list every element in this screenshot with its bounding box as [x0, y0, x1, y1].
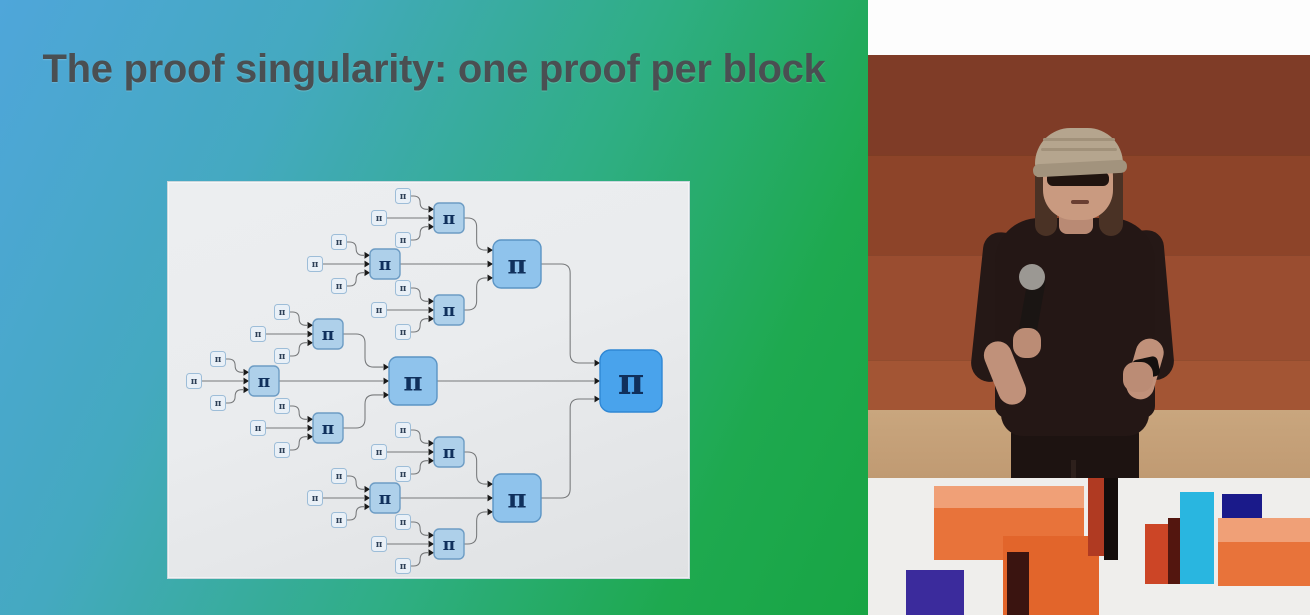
proof-l3-node-glyph: π [507, 250, 526, 280]
wire-arrowhead [429, 457, 435, 464]
proof-leaf-node-glyph: π [400, 236, 407, 246]
proof-leaf-node-glyph: π [336, 282, 343, 292]
proof-leaf-node-glyph: π [400, 562, 407, 572]
block-red-narrow [1088, 478, 1104, 556]
proof-leaf-node-glyph: π [255, 424, 262, 434]
proof-aggregation-tree-svg: ππππππππππππππππππππππππππππππππππππππππ [168, 182, 691, 580]
proof-l2-node-glyph: π [379, 255, 391, 275]
proof-leaf-node-glyph: π [312, 260, 319, 270]
proof-leaf-node-glyph: π [336, 472, 343, 482]
proof-l2-node-glyph: π [322, 325, 334, 345]
wire-arrowhead [365, 495, 371, 502]
wire-arrowhead [595, 360, 601, 367]
wire-arrowhead [244, 378, 250, 385]
proof-wire [347, 242, 365, 255]
wire-arrowhead [595, 378, 601, 385]
proof-leaf-node-glyph: π [400, 426, 407, 436]
proof-leaf-node-glyph: π [400, 470, 407, 480]
wire-arrowhead [429, 541, 435, 548]
stage-decor-blocks [868, 478, 1310, 615]
proof-leaf-node-glyph: π [312, 494, 319, 504]
wire-arrowhead [429, 223, 435, 230]
wire-arrowhead [308, 416, 314, 423]
block-orange-top [934, 486, 1084, 508]
proof-wire [464, 278, 487, 310]
proof-l2-node-glyph: π [322, 419, 334, 439]
wire-arrowhead [488, 275, 494, 282]
proof-l2-node-glyph: π [443, 301, 455, 321]
wire-arrowhead [488, 495, 494, 502]
block-darkred [1007, 552, 1029, 615]
proof-l2-node-glyph: π [443, 535, 455, 555]
proof-wire [541, 399, 594, 498]
proof-wire [290, 343, 308, 356]
proof-l2-node-glyph: π [379, 489, 391, 509]
screen: The proof singularity: one proof per blo… [0, 0, 1310, 615]
proof-wire [411, 288, 429, 301]
wire-arrowhead [488, 261, 494, 268]
wire-arrowhead [429, 206, 435, 213]
proof-leaf-node-glyph: π [279, 446, 286, 456]
wire-arrowhead [429, 298, 435, 305]
wire-arrowhead [308, 425, 314, 432]
wire-arrowhead [384, 364, 390, 371]
slide-title: The proof singularity: one proof per blo… [0, 44, 868, 95]
proof-wire [290, 437, 308, 450]
wire-arrowhead [365, 261, 371, 268]
presentation-slide: The proof singularity: one proof per blo… [0, 0, 868, 615]
wire-arrowhead [429, 549, 435, 556]
proof-wire [226, 359, 244, 372]
wire-arrowhead [429, 215, 435, 222]
proof-leaf-node-glyph: π [279, 352, 286, 362]
wire-arrowhead [384, 378, 390, 385]
proof-l3-node-glyph: π [507, 484, 526, 514]
wire-arrowhead [429, 307, 435, 314]
proof-wire [411, 553, 429, 566]
block-orange-rt [1218, 536, 1310, 586]
proof-leaf-node-glyph: π [400, 328, 407, 338]
proof-l3-node-glyph: π [403, 367, 422, 397]
wire-arrowhead [429, 449, 435, 456]
proof-wire [343, 395, 383, 428]
speaker-video-panel [868, 0, 1310, 615]
proof-wire [411, 227, 429, 240]
wire-arrowhead [308, 331, 314, 338]
block-black [1104, 478, 1118, 560]
proof-leaf-node-glyph: π [400, 284, 407, 294]
wire-arrowhead [244, 386, 250, 393]
proof-wire [411, 522, 429, 535]
proof-l2-node-glyph: π [443, 209, 455, 229]
proof-leaf-node-glyph: π [191, 377, 198, 387]
wire-arrowhead [308, 339, 314, 346]
cap-ridge [1041, 148, 1117, 151]
wire-arrowhead [429, 440, 435, 447]
microphone-head [1019, 264, 1045, 290]
wire-arrowhead [429, 315, 435, 322]
proof-wire [411, 319, 429, 332]
video-top-band [868, 0, 1310, 55]
proof-wire [411, 461, 429, 474]
wire-arrowhead [308, 322, 314, 329]
proof-l2-node-glyph: π [443, 443, 455, 463]
wire-arrowhead [308, 433, 314, 440]
wire-arrowhead [244, 369, 250, 376]
wire-arrowhead [365, 269, 371, 276]
wire-arrowhead [488, 509, 494, 516]
speaker-mouth [1071, 200, 1089, 204]
wire-arrowhead [384, 392, 390, 399]
cap-ridge [1043, 138, 1115, 141]
proof-leaf-node-glyph: π [336, 516, 343, 526]
block-cyan [1180, 492, 1214, 584]
wire-arrowhead [365, 503, 371, 510]
proof-wire [347, 507, 365, 520]
proof-wire [290, 312, 308, 325]
proof-leaf-node-glyph: π [255, 330, 262, 340]
proof-wire [347, 273, 365, 286]
proof-leaf-node-glyph: π [336, 238, 343, 248]
proof-leaf-node-glyph: π [400, 192, 407, 202]
proof-leaf-node-glyph: π [376, 306, 383, 316]
proof-leaf-node-glyph: π [400, 518, 407, 528]
proof-leaf-node-glyph: π [215, 399, 222, 409]
proof-leaf-node-glyph: π [215, 355, 222, 365]
proof-wire [290, 406, 308, 419]
proof-wire [464, 218, 487, 250]
proof-leaf-node-glyph: π [376, 540, 383, 550]
wire-arrowhead [365, 252, 371, 259]
speaker-right-hand [1123, 362, 1153, 392]
wire-arrowhead [365, 486, 371, 493]
proof-l2-node-glyph: π [258, 372, 270, 392]
wire-arrowhead [488, 481, 494, 488]
proof-tree-panel: ππππππππππππππππππππππππππππππππππππππππ [167, 181, 690, 579]
proof-leaf-node-glyph: π [376, 214, 383, 224]
block-purple [906, 570, 964, 615]
proof-root-node-glyph: π [618, 361, 644, 403]
proof-leaf-node-glyph: π [279, 308, 286, 318]
block-orange-rt2 [1218, 518, 1310, 542]
proof-wire [226, 390, 244, 403]
proof-wire [411, 430, 429, 443]
proof-wire [343, 334, 383, 367]
speaker-left-hand [1013, 328, 1041, 358]
wire-arrowhead [488, 247, 494, 254]
proof-leaf-node-glyph: π [376, 448, 383, 458]
wire-arrowhead [595, 396, 601, 403]
proof-wire [464, 512, 487, 544]
proof-wire [541, 264, 594, 363]
wire-arrowhead [429, 532, 435, 539]
proof-wire [347, 476, 365, 489]
proof-wire [411, 196, 429, 209]
proof-leaf-node-glyph: π [279, 402, 286, 412]
proof-wire [464, 452, 487, 484]
